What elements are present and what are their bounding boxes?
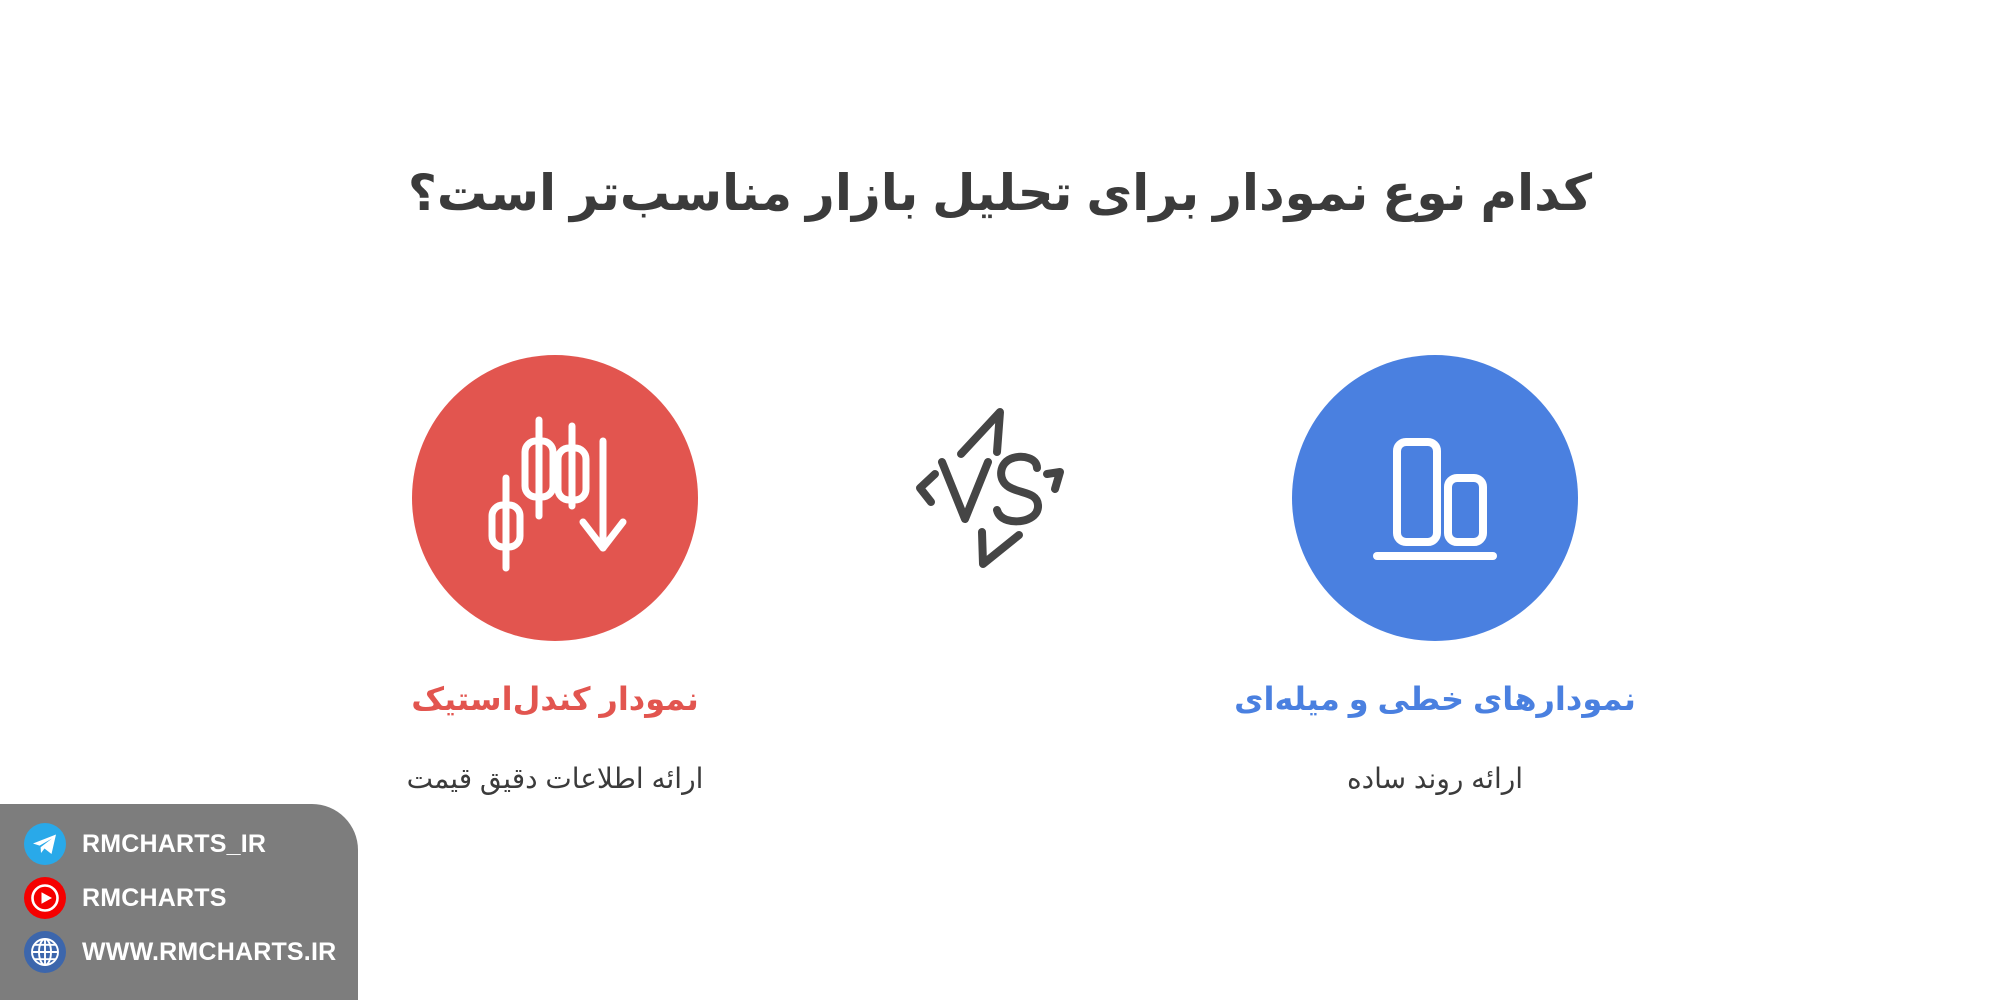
watermark-label-youtube: RMCHARTS [82,884,227,913]
vs-separator [895,392,1085,582]
candlestick-chart-icon [455,398,655,598]
youtube-icon [24,877,66,919]
candlestick-icon-badge [412,355,698,641]
watermark-item-youtube[interactable]: RMCHARTS [24,876,358,920]
vs-burst-icon [895,392,1085,582]
watermark-label-telegram: RMCHARTS_IR [82,830,266,859]
telegram-icon [24,823,66,865]
option-description-line-bar: ارائه روند ساده [1155,761,1715,797]
page-title: کدام نوع نمودار برای تحلیل بازار مناسب‌ت… [0,165,2000,223]
watermark-item-telegram[interactable]: RMCHARTS_IR [24,822,358,866]
watermark-label-website: WWW.RMCHARTS.IR [82,938,336,967]
bar-chart-icon [1335,398,1535,598]
option-description-candlestick: ارائه اطلاعات دقیق قیمت [275,761,835,797]
option-card-candlestick: نمودار کندل‌استیک ارائه اطلاعات دقیق قیم… [275,355,835,797]
infographic-canvas: کدام نوع نمودار برای تحلیل بازار مناسب‌ت… [0,0,2000,1000]
bar-chart-icon-badge [1292,355,1578,641]
globe-icon [24,931,66,973]
option-card-line-bar: نمودارهای خطی و میله‌ای ارائه روند ساده [1155,355,1715,797]
option-label-line-bar: نمودارهای خطی و میله‌ای [1155,679,1715,721]
watermark-item-website[interactable]: WWW.RMCHARTS.IR [24,930,358,974]
brand-watermark-panel: RMCHARTS_IR RMCHARTS [0,804,358,1000]
option-label-candlestick: نمودار کندل‌استیک [275,679,835,721]
